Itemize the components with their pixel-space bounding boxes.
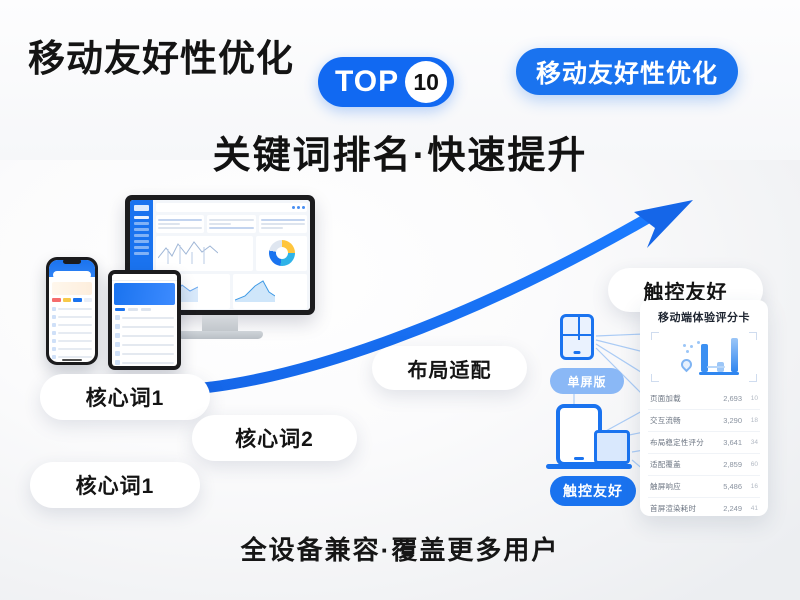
phone-mockup [46,257,98,365]
row-delta: 10 [742,395,758,402]
dashboard-chart-row [156,236,307,271]
dashboard-donut-chart [256,236,307,271]
diagram-laptop-base [546,464,632,469]
tablet-list-item [112,349,177,358]
row-label: 适配覆盖 [650,459,716,470]
tablet-banner [114,283,175,305]
result-icon [52,355,56,359]
phone-search-bar [53,271,91,279]
list-text [122,335,174,337]
card-line [209,223,231,225]
device-mockups [30,195,340,375]
result-text [58,308,92,310]
phone-home-button [574,457,584,460]
card-line [261,219,305,221]
result-icon [52,315,56,319]
list-icon [115,360,120,365]
tablet-list-item [112,340,177,349]
corner-bracket-icon [749,374,757,382]
corner-bracket-icon [749,332,757,340]
dashboard-card [207,215,255,233]
row-delta: 41 [742,505,758,512]
header-tag-pill: 移动友好性优化 [516,48,738,95]
table-row: 适配覆盖 2,859 60 [648,453,760,475]
footer-tagline: 全设备兼容·覆盖更多用户 [0,530,800,567]
row-label: 布局稳定性评分 [650,437,716,448]
tablet-list-item [112,322,177,331]
top-badge-number: 10 [405,61,447,103]
result-icon [52,323,56,327]
result-icon [52,347,56,351]
diagram-pill-single-screen[interactable]: 单屏版 [550,368,624,394]
diagram-laptop-icon [594,430,630,464]
keyword-pill-2[interactable]: 核心词2 [192,415,357,461]
score-card-title: 移动端体验评分卡 [648,309,760,325]
phone-chip [73,298,82,302]
tablet-list-item [112,358,177,366]
card-line [158,223,180,225]
row-delta: 60 [742,461,758,468]
dashboard-nav-item [134,228,149,231]
card-line [209,227,253,229]
feature-pill-layout[interactable]: 布局适配 [372,346,527,390]
row-delta: 18 [742,417,758,424]
phone-chip [84,298,93,302]
tablet-tab [115,308,125,311]
table-row: 页面加载 2,693 10 [648,388,760,409]
list-icon [115,315,120,320]
tablet-screen [112,274,177,366]
tablet-list-item [112,313,177,322]
phone-ad-card [52,282,92,295]
sparkline-chart [158,238,218,264]
phone-chip [63,298,72,302]
card-line [261,223,305,225]
corner-bracket-icon [651,374,659,382]
dashboard-area-chart [233,274,307,309]
row-delta: 34 [742,439,758,446]
monitor-stand-neck [202,315,238,331]
table-row: 触屏响应 5,486 16 [648,475,760,497]
dashboard-nav-item [134,252,149,255]
row-value: 2,249 [716,504,742,513]
monitor-stand-base [177,331,263,339]
phone-screen [49,260,95,362]
diagram-pill-touch-friendly[interactable]: 触控友好 [550,476,636,506]
result-icon [52,331,56,335]
topbar-dot-icon [302,206,305,209]
row-value: 5,486 [716,482,742,491]
phone-notch [63,259,81,264]
row-value: 2,859 [716,460,742,469]
phone-home-indicator [62,359,82,361]
phone-result-item [49,329,95,337]
tablet-list-item [112,331,177,340]
table-row: 布局稳定性评分 3,641 34 [648,431,760,453]
list-icon [115,324,120,329]
row-label: 触屏响应 [650,481,716,492]
result-text [58,332,92,334]
row-value: 3,641 [716,438,742,447]
row-value: 2,693 [716,394,742,403]
list-text [122,344,174,346]
dashboard-nav-item [134,222,149,225]
dashboard-logo [134,205,149,211]
page-subtitle: 关键词排名·快速提升 [0,124,800,179]
row-label: 首屏渲染耗时 [650,503,716,514]
poster-canvas: 移动友好性优化 TOP 10 移动友好性优化 关键词排名·快速提升 [0,0,800,600]
dashboard-topbar [156,203,307,212]
phone-mid-line [578,317,580,340]
phone-chip-row [49,298,95,305]
dashboard-nav-item [134,240,149,243]
list-text [122,362,174,364]
list-text [122,326,174,328]
diagram-phone-small-icon [560,314,594,360]
corner-bracket-icon [651,332,659,340]
dashboard-nav-item [134,246,149,249]
topbar-dot-icon [292,206,295,209]
keyword-pill-3[interactable]: 核心词1 [30,462,200,508]
phone-split-line [563,334,591,336]
row-label: 交互流畅 [650,415,716,426]
table-row: 首屏渲染耗时 2,249 41 [648,497,760,519]
table-row: 交互流畅 3,290 18 [648,409,760,431]
result-text [58,348,92,350]
donut-chart [269,240,295,266]
dashboard-nav-item [134,234,149,237]
top-rank-badge: TOP 10 [318,57,454,107]
tablet-tab [128,308,138,311]
result-icon [52,307,56,311]
topbar-dot-icon [297,206,300,209]
phone-result-item [49,337,95,345]
mobile-score-card: 移动端体验评分卡 页面加载 2,69 [640,300,768,516]
list-text [122,317,174,319]
chart-bar [731,338,738,372]
card-line [158,219,202,221]
tablet-mockup [108,270,181,370]
tablet-tab [141,308,151,311]
dashboard-card [156,215,204,233]
area-chart [235,276,275,302]
result-text [58,316,92,318]
dashboard-nav-item [134,216,149,219]
result-icon [52,339,56,343]
phone-result-item [49,345,95,353]
phone-chip [52,298,61,302]
chart-pin-icon [679,357,695,373]
phone-home-button [574,351,581,354]
phone-result-item [49,361,95,362]
result-text [58,340,92,342]
card-line [158,227,202,229]
result-text [58,356,92,358]
keyword-pill-1[interactable]: 核心词1 [40,374,210,420]
phone-result-item [49,305,95,313]
card-line [209,219,253,221]
score-card-chart [651,332,757,382]
list-text [122,353,174,355]
device-network-diagram: 单屏版 触控友好 移动端体验评分卡 [548,300,768,516]
chart-baseline [699,372,739,375]
dashboard-line-chart [156,236,253,271]
result-text [58,324,92,326]
chart-baseline-secondary [707,366,725,368]
row-value: 3,290 [716,416,742,425]
dashboard-filter-row [156,215,307,233]
card-line [261,227,283,229]
row-delta: 16 [742,483,758,490]
list-icon [115,342,120,347]
list-icon [115,351,120,356]
tablet-header-bar [112,274,177,281]
dashboard-card [259,215,307,233]
top-badge-word: TOP [335,67,399,97]
page-title: 移动友好性优化 [28,28,294,82]
phone-result-item [49,313,95,321]
row-label: 页面加载 [650,393,716,404]
phone-result-item [49,321,95,329]
score-card-rows: 页面加载 2,693 10 交互流畅 3,290 18 布局稳定性评分 3,64… [648,388,760,519]
list-icon [115,333,120,338]
